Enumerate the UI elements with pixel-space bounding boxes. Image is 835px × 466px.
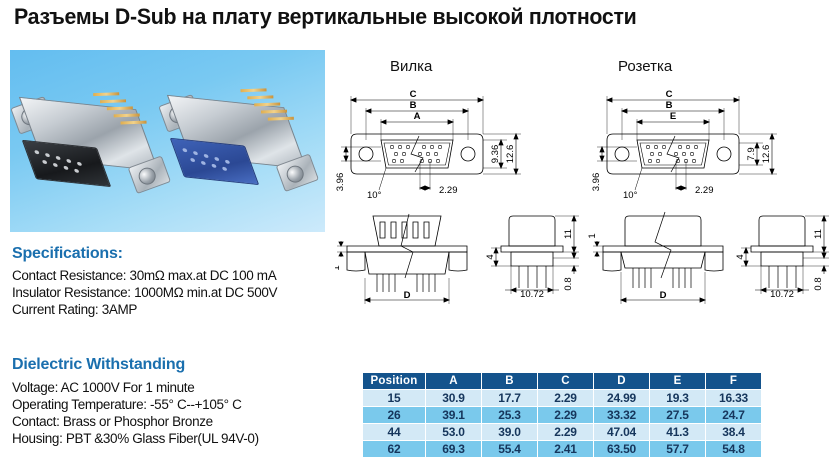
dim-plug-396: 3.96 [335, 173, 346, 192]
plug-end-view: 11 4 0.8 10.72 [485, 216, 579, 300]
table-row: 15 30.9 17.7 2.29 24.99 19.3 16.33 [363, 390, 762, 407]
dim-socket-end-1072: 10.72 [770, 289, 794, 300]
dim-plug-end-4: 4 [485, 254, 496, 259]
connector-female [150, 50, 325, 232]
dim-plug-126: 12.6 [505, 145, 516, 164]
dim-socket-126: 12.6 [761, 145, 772, 164]
cell-d: 63.50 [594, 441, 650, 458]
cell-c: 2.29 [538, 390, 594, 407]
table-row: 26 39.1 25.3 2.29 33.32 27.5 24.7 [363, 407, 762, 424]
dim-socket-c: C [666, 89, 673, 100]
dim-socket-end-4: 4 [735, 254, 746, 259]
table-header-b: B [482, 373, 538, 390]
specifications-heading: Specifications: [12, 245, 123, 263]
dim-plug-end-1072: 10.72 [520, 289, 544, 300]
cell-f: 16.33 [706, 390, 762, 407]
cell-e: 19.3 [650, 390, 706, 407]
dim-socket-end-08: 0.8 [813, 277, 824, 290]
dim-socket-79: 7.9 [746, 147, 757, 160]
dim-plug-936: 9.36 [490, 145, 501, 164]
dim-plug-b: B [410, 100, 417, 111]
table-header-row: Position A B C D E F [363, 373, 762, 390]
spec-insulator-resistance: Insulator Resistance: 1000MΩ min.at DC 5… [12, 285, 277, 300]
drawings-svg: C B A 9.36 12.6 3.96 [335, 48, 835, 348]
dim-socket-e: E [670, 111, 676, 122]
dim-socket-396: 3.96 [591, 173, 602, 192]
cell-f: 54.8 [706, 441, 762, 458]
cell-f: 38.4 [706, 424, 762, 441]
cell-b: 25.3 [482, 407, 538, 424]
table-header-f: F [706, 373, 762, 390]
cell-position: 26 [363, 407, 426, 424]
socket-front-view: C B E 7.9 12.6 3.96 10° [591, 89, 777, 201]
dielectric-contact: Contact: Brass or Phosphor Bronze [12, 414, 213, 429]
table-header-c: C [538, 373, 594, 390]
cell-d: 47.04 [594, 424, 650, 441]
dim-socket-end-11: 11 [813, 229, 824, 239]
dielectric-housing: Housing: PBT &30% Glass Fiber(UL 94V-0) [12, 431, 259, 446]
dim-plug-a: A [414, 111, 421, 122]
technical-drawings: C B A 9.36 12.6 3.96 [335, 48, 835, 348]
cell-position: 44 [363, 424, 426, 441]
cell-position: 62 [363, 441, 426, 458]
cell-a: 30.9 [426, 390, 482, 407]
table-header-position: Position [363, 373, 426, 390]
cell-a: 53.0 [426, 424, 482, 441]
cell-f: 24.7 [706, 407, 762, 424]
page-title: Разъемы D-Sub на плату вертикальные высо… [14, 4, 800, 30]
dielectric-heading: Dielectric Withstanding [12, 356, 185, 374]
cell-a: 39.1 [426, 407, 482, 424]
table-header-e: E [650, 373, 706, 390]
dim-socket-b: B [666, 100, 673, 111]
dim-socket-pitch: 2.29 [695, 185, 714, 196]
plug-front-view: C B A 9.36 12.6 3.96 [335, 89, 521, 201]
cell-d: 24.99 [594, 390, 650, 407]
dielectric-temperature: Operating Temperature: -55° C--+105° C [12, 397, 242, 412]
table-header-d: D [594, 373, 650, 390]
cell-c: 2.29 [538, 407, 594, 424]
cell-b: 55.4 [482, 441, 538, 458]
cell-position: 15 [363, 390, 426, 407]
table-header-a: A [426, 373, 482, 390]
cell-c: 2.29 [538, 424, 594, 441]
table-row: 62 69.3 55.4 2.41 63.50 57.7 54.8 [363, 441, 762, 458]
cell-b: 17.7 [482, 390, 538, 407]
cell-e: 57.7 [650, 441, 706, 458]
dim-plug-side-d: D [404, 290, 411, 301]
dim-socket-side-d: D [660, 290, 667, 301]
product-photo [10, 50, 325, 232]
spec-current-rating: Current Rating: 3AMP [12, 302, 137, 317]
table-row: 44 53.0 39.0 2.29 47.04 41.3 38.4 [363, 424, 762, 441]
cell-d: 33.32 [594, 407, 650, 424]
dim-plug-c: C [410, 89, 417, 100]
dimension-table: Position A B C D E F 15 30.9 17.7 2.29 2… [362, 372, 762, 458]
dim-socket-angle: 10° [623, 190, 638, 201]
spec-contact-resistance: Contact Resistance: 30mΩ max.at DC 100 m… [12, 268, 276, 283]
dim-plug-end-08: 0.8 [563, 277, 574, 290]
dielectric-voltage: Voltage: AC 1000V For 1 minute [12, 380, 194, 395]
cell-e: 41.3 [650, 424, 706, 441]
plug-side-view: 1 D [335, 214, 467, 304]
dim-plug-side-1: 1 [335, 265, 342, 270]
cell-a: 69.3 [426, 441, 482, 458]
dim-plug-pitch: 2.29 [439, 185, 458, 196]
socket-side-view: 1 D [587, 212, 723, 304]
cell-e: 27.5 [650, 407, 706, 424]
cell-b: 39.0 [482, 424, 538, 441]
dim-socket-side-1: 1 [587, 233, 598, 238]
dim-plug-angle: 10° [367, 190, 382, 201]
dim-plug-end-11: 11 [563, 229, 574, 239]
cell-c: 2.41 [538, 441, 594, 458]
socket-end-view: 11 4 0.8 10.72 [735, 216, 829, 300]
